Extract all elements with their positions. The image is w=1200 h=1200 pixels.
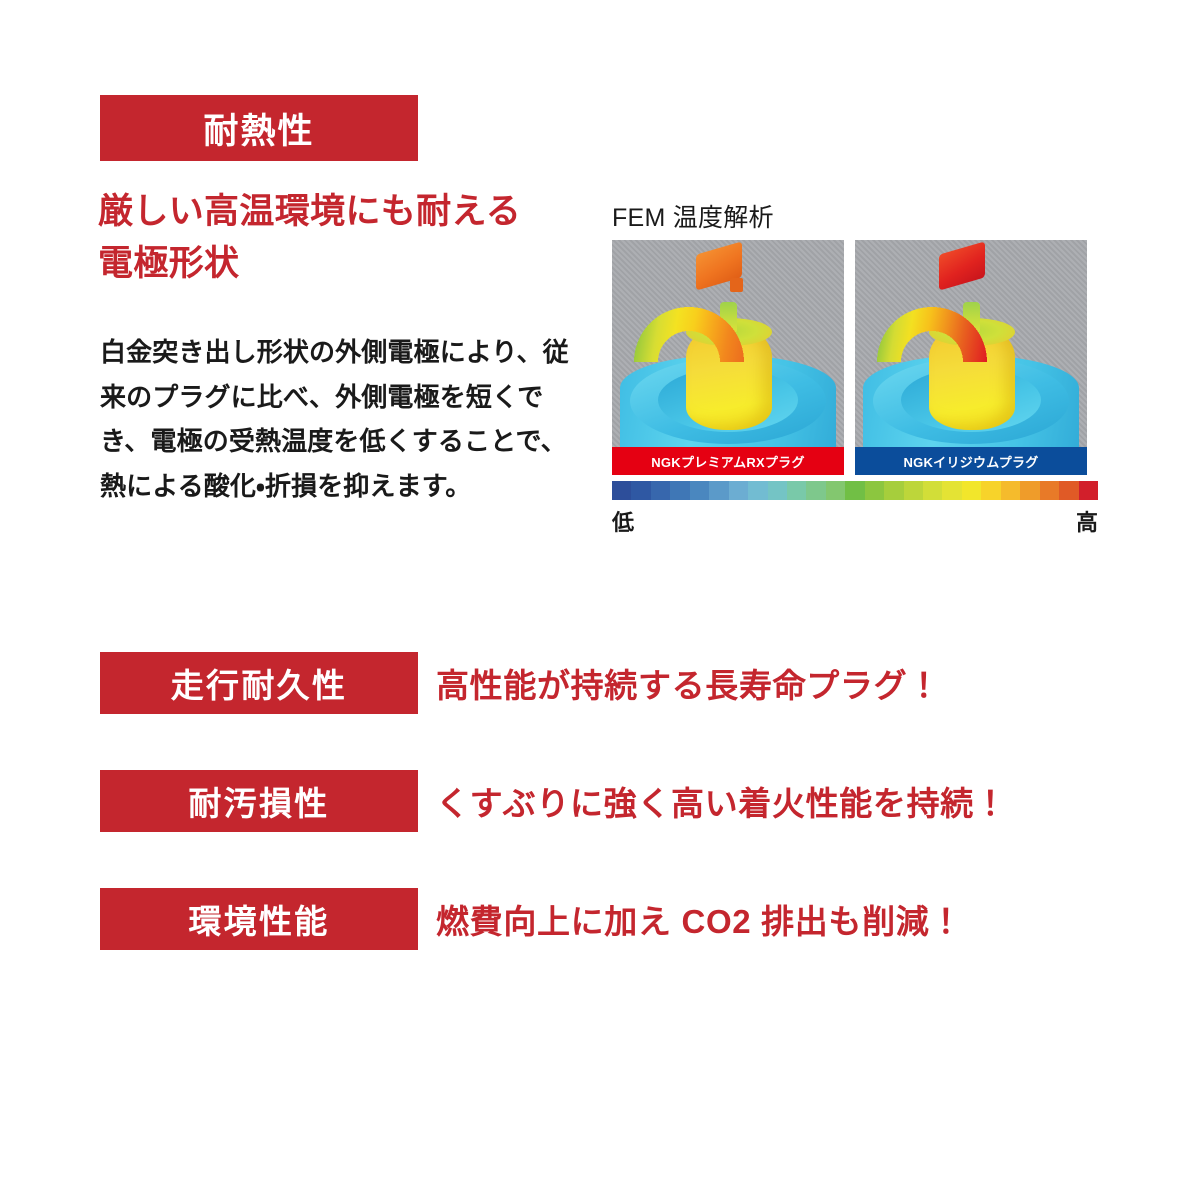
temperature-scale-segment-11 (826, 481, 845, 500)
heat-resistance-badge: 耐熱性 (100, 95, 418, 161)
feature-row: 走行耐久性 高性能が持続する長寿命プラグ！ (100, 652, 1100, 714)
feature-badge-environmental: 環境性能 (100, 888, 418, 950)
temperature-scale-segment-5 (709, 481, 728, 500)
temperature-scale-segment-6 (729, 481, 748, 500)
temperature-scale-high-label: 高 (1076, 505, 1098, 537)
temperature-scale-segment-13 (865, 481, 884, 500)
temperature-scale-segment-16 (923, 481, 942, 500)
temperature-scale-segment-18 (962, 481, 981, 500)
temperature-scale-segment-20 (1001, 481, 1020, 500)
temperature-scale-segment-14 (884, 481, 903, 500)
temperature-scale-segment-17 (942, 481, 961, 500)
heat-resistance-body-text: 白金突き出し形状の外側電極により、従来のプラグに比べ、外側電極を短くでき、電極の… (100, 330, 580, 509)
temperature-scale-segment-9 (787, 481, 806, 500)
fem-caption-premium-rx: NGKプレミアムRXプラグ (612, 447, 844, 475)
temperature-scale-segment-2 (651, 481, 670, 500)
heat-resistance-section: 耐熱性 厳しい高温環境にも耐える 電極形状 白金突き出し形状の外側電極により、従… (0, 0, 1200, 620)
fem-panel-premium-rx: NGKプレミアムRXプラグ (612, 240, 844, 475)
temperature-scale-segment-3 (670, 481, 689, 500)
temperature-scale-segment-24 (1079, 481, 1098, 500)
temperature-scale-segment-7 (748, 481, 767, 500)
temperature-scale-bar (612, 481, 1098, 500)
temperature-scale-segment-1 (631, 481, 650, 500)
temperature-scale-segment-19 (981, 481, 1000, 500)
temperature-scale-segment-21 (1020, 481, 1039, 500)
fem-panel-iridium: NGKイリジウムプラグ (855, 240, 1087, 475)
temperature-scale-segment-0 (612, 481, 631, 500)
temperature-scale-segment-8 (768, 481, 787, 500)
fem-render-premium-rx (612, 240, 844, 475)
temperature-scale-segment-22 (1040, 481, 1059, 500)
ground-electrode-nub (730, 278, 743, 292)
temperature-scale-segment-23 (1059, 481, 1078, 500)
feature-row: 環境性能 燃費向上に加え CO2 排出も削減！ (100, 888, 1100, 950)
fem-render-iridium (855, 240, 1087, 475)
feature-row: 耐汚損性 くすぶりに強く高い着火性能を持続！ (100, 770, 1100, 832)
feature-badge-durability: 走行耐久性 (100, 652, 418, 714)
feature-text-durability: 高性能が持続する長寿命プラグ！ (436, 652, 941, 714)
temperature-scale-segment-4 (690, 481, 709, 500)
temperature-scale-segment-10 (806, 481, 825, 500)
temperature-scale-segment-15 (904, 481, 923, 500)
feature-text-fouling-resistance: くすぶりに強く高い着火性能を持続！ (436, 770, 1008, 832)
feature-badge-fouling-resistance: 耐汚損性 (100, 770, 418, 832)
fem-caption-iridium: NGKイリジウムプラグ (855, 447, 1087, 475)
heat-resistance-subtitle: 厳しい高温環境にも耐える 電極形状 (98, 186, 578, 290)
temperature-scale-segment-12 (845, 481, 864, 500)
temperature-scale-low-label: 低 (612, 505, 634, 537)
fem-analysis-title: FEM 温度解析 (612, 198, 774, 234)
feature-text-environmental: 燃費向上に加え CO2 排出も削減！ (436, 888, 963, 950)
